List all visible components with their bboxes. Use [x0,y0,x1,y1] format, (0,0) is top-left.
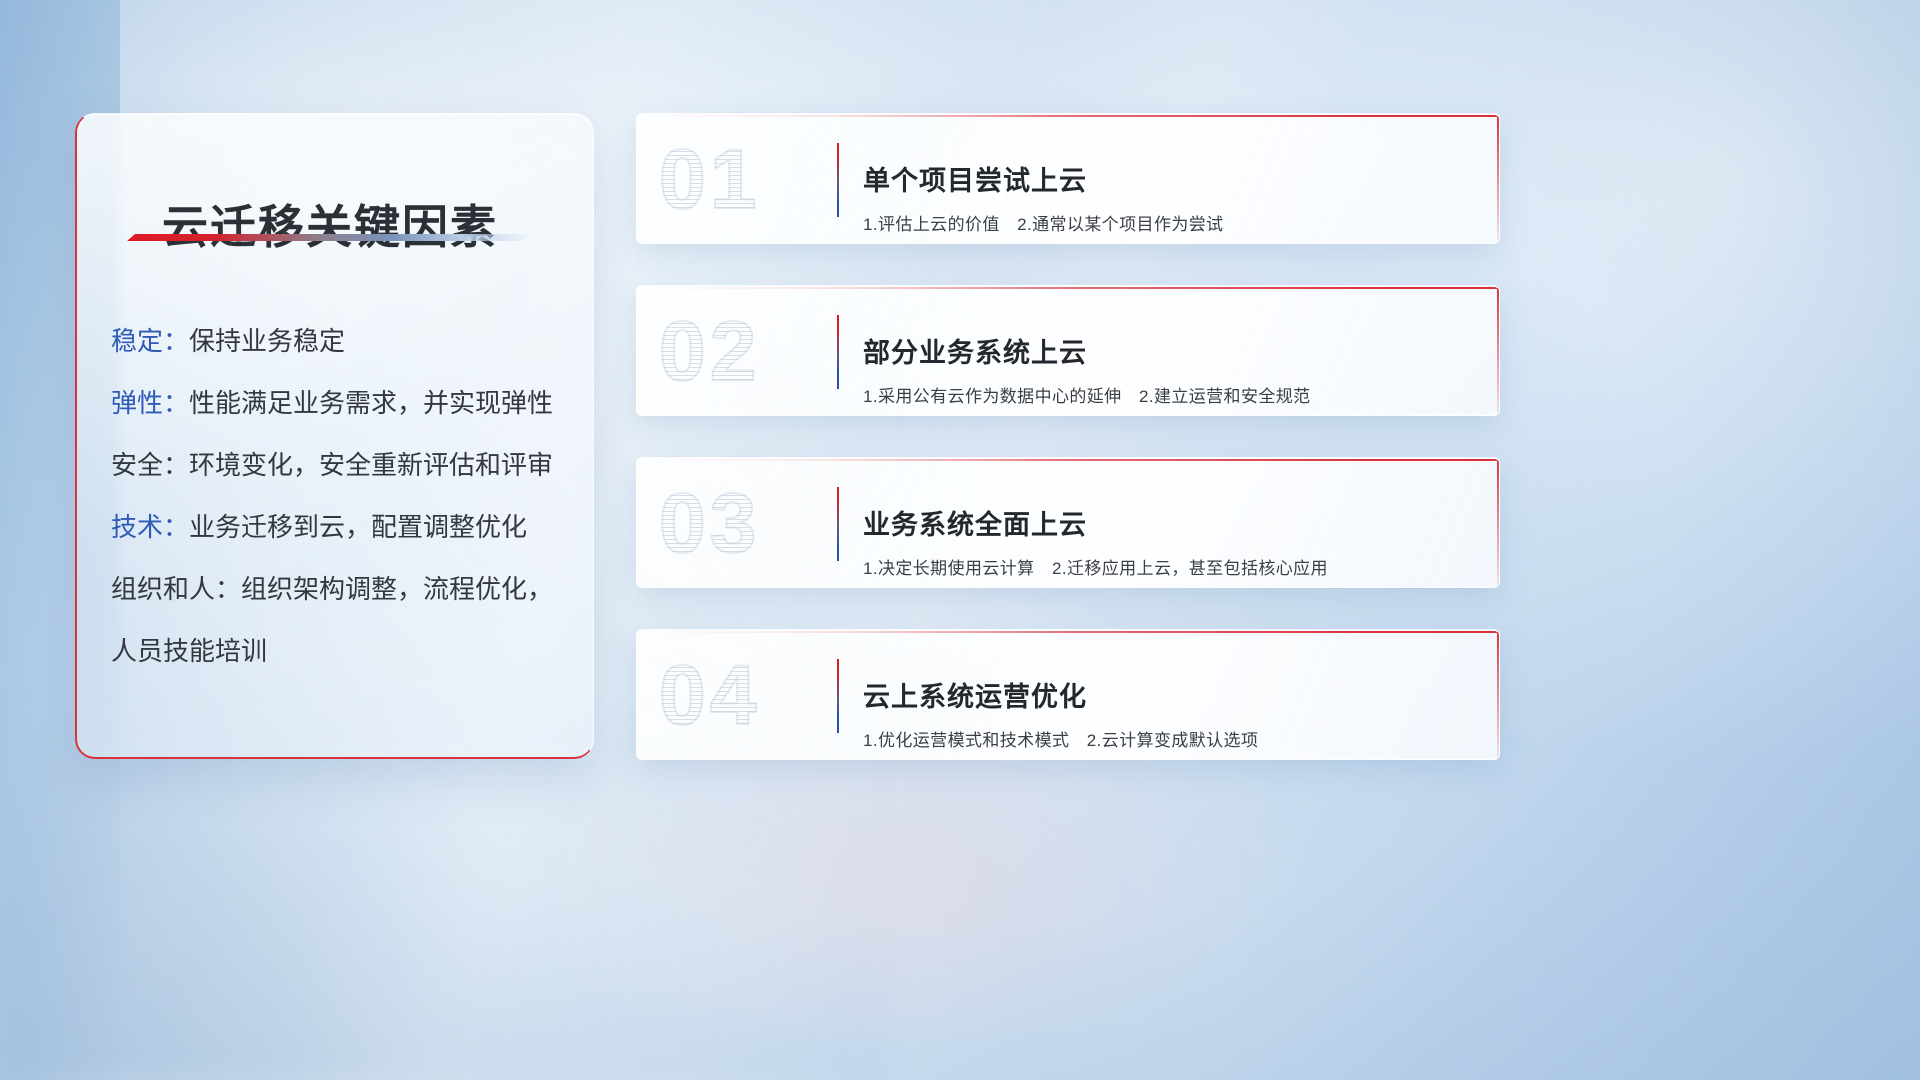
factor-value: 环境变化，安全重新评估和评审 [189,450,553,480]
card-description: 1.决定长期使用云计算 2.迁移应用上云，甚至包括核心应用 [863,554,1328,579]
card-right-accent [1497,631,1499,759]
factor-label: 弹性： [111,388,189,418]
stage-card-list: 01 单个项目尝试上云 1.评估上云的价值 2.通常以某个项目作为尝试 02 部… [636,113,1500,801]
slide-stage: 云迁移关键因素 稳定：保持业务稳定 弹性：性能满足业务需求，并实现弹性 安全：环… [0,0,1920,1080]
card-number: 02 [659,299,839,403]
card-top-accent [637,459,1499,461]
card-description: 1.优化运营模式和技术模式 2.云计算变成默认选项 [863,726,1258,751]
card-title: 业务系统全面上云 [863,503,1087,542]
factor-row-continuation: 人员技能培训 [111,620,581,682]
factor-value: 组织架构调整，流程优化， [241,574,553,604]
card-title: 单个项目尝试上云 [863,159,1087,198]
card-description: 1.评估上云的价值 2.通常以某个项目作为尝试 [863,210,1224,235]
key-factors-panel: 云迁移关键因素 稳定：保持业务稳定 弹性：性能满足业务需求，并实现弹性 安全：环… [75,113,594,759]
card-divider-rule [837,487,839,561]
card-top-accent [637,115,1499,117]
stage-card[interactable]: 03 业务系统全面上云 1.决定长期使用云计算 2.迁移应用上云，甚至包括核心应… [636,457,1500,588]
stage-card[interactable]: 01 单个项目尝试上云 1.评估上云的价值 2.通常以某个项目作为尝试 [636,113,1500,244]
factor-row: 弹性：性能满足业务需求，并实现弹性 [111,372,581,434]
factor-row: 安全：环境变化，安全重新评估和评审 [111,434,581,496]
card-divider-rule [837,315,839,389]
factor-row: 稳定：保持业务稳定 [111,310,581,372]
card-divider-rule [837,659,839,733]
title-underline-rule [127,234,527,241]
stage-card[interactable]: 04 云上系统运营优化 1.优化运营模式和技术模式 2.云计算变成默认选项 [636,629,1500,760]
factor-value: 业务迁移到云，配置调整优化 [189,512,527,542]
factor-label: 组织和人： [111,574,241,604]
stage-card[interactable]: 02 部分业务系统上云 1.采用公有云作为数据中心的延伸 2.建立运营和安全规范 [636,285,1500,416]
card-number: 03 [659,471,839,575]
factor-row: 技术：业务迁移到云，配置调整优化 [111,496,581,558]
card-right-accent [1497,115,1499,243]
card-number: 01 [659,127,839,231]
card-title: 部分业务系统上云 [863,331,1087,370]
card-right-accent [1497,459,1499,587]
page-title: 云迁移关键因素 [162,191,498,257]
card-top-accent [637,287,1499,289]
factor-value: 人员技能培训 [111,636,267,666]
factor-label: 稳定： [111,326,189,356]
card-title: 云上系统运营优化 [863,675,1087,714]
card-description: 1.采用公有云作为数据中心的延伸 2.建立运营和安全规范 [863,382,1311,407]
card-number: 04 [659,643,839,747]
factor-list: 稳定：保持业务稳定 弹性：性能满足业务需求，并实现弹性 安全：环境变化，安全重新… [111,310,581,682]
factor-label: 安全： [111,450,189,480]
factor-value: 性能满足业务需求，并实现弹性 [189,388,553,418]
factor-row: 组织和人：组织架构调整，流程优化， [111,558,581,620]
factor-label: 技术： [111,512,189,542]
factor-value: 保持业务稳定 [189,326,345,356]
card-top-accent [637,631,1499,633]
card-divider-rule [837,143,839,217]
card-right-accent [1497,287,1499,415]
